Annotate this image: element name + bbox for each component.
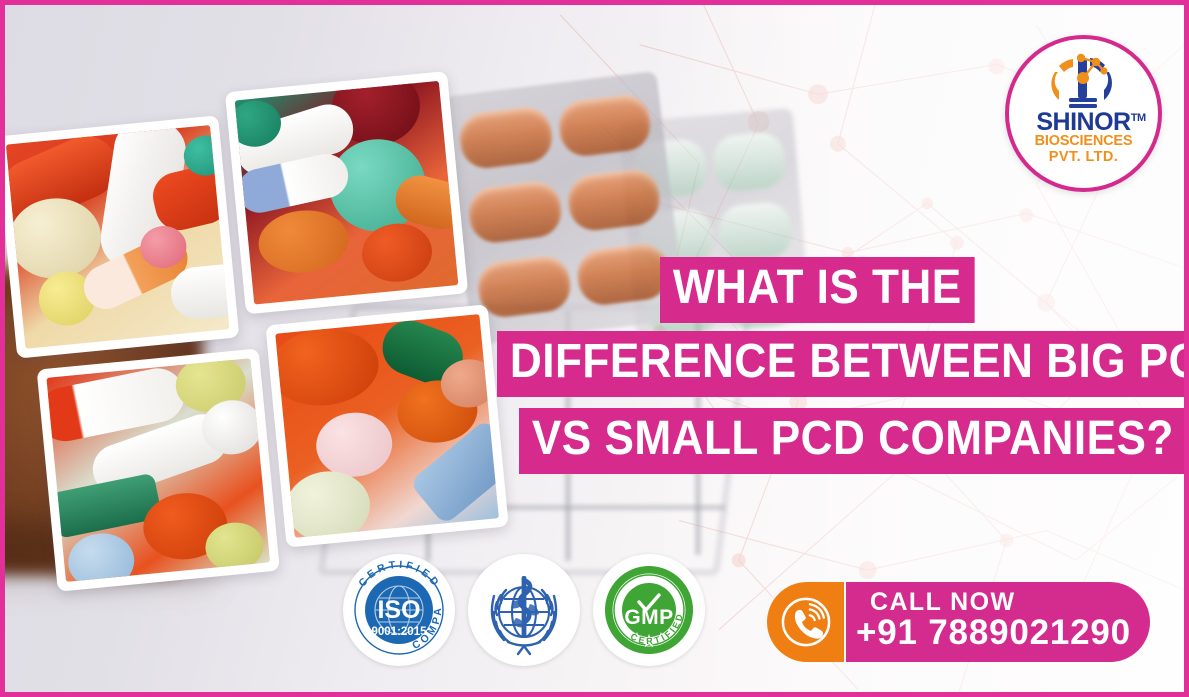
svg-text:9001:2015: 9001:2015 <box>372 626 428 638</box>
logo-name-text: SHINOR <box>1036 108 1130 136</box>
svg-text:ISO: ISO <box>377 596 420 624</box>
collage-tile-1 <box>0 115 239 358</box>
call-now-number[interactable]: +91 7889021290 <box>856 614 1150 652</box>
call-now-text: CALL NOW +91 7889021290 <box>846 582 1150 662</box>
call-now-label: CALL NOW <box>870 589 1150 615</box>
molecule-icon <box>1047 52 1121 112</box>
logo-subtitle: BIOSCIENCES <box>1035 134 1133 149</box>
trademark-icon: TM <box>1131 106 1146 130</box>
collage-tile-4 <box>265 304 508 547</box>
logo-entity-type: PVT. LTD. <box>1049 149 1118 165</box>
promotional-banner: WHAT IS THE DIFFERENCE BETWEEN BIG PCD V… <box>0 0 1189 697</box>
call-now-button[interactable]: CALL NOW +91 7889021290 <box>767 582 1150 662</box>
gmp-certification-icon: GMP GOOD MANUFACTURING PRACTICE CERTIFIE… <box>593 554 705 666</box>
logo-company-name: SHINOR TM <box>1036 110 1130 134</box>
pill-photo-collage <box>0 92 508 595</box>
iso-badge[interactable]: ISO 9001:2015 CERTIFIED COMPANY <box>343 554 455 666</box>
gmp-badge[interactable]: GMP GOOD MANUFACTURING PRACTICE CERTIFIE… <box>593 554 705 666</box>
phone-call-icon[interactable] <box>767 582 844 662</box>
who-badge[interactable] <box>468 554 580 666</box>
headline-line-1: WHAT IS THE <box>660 257 975 323</box>
headline-line-3: VS SMALL PCD COMPANIES? <box>519 408 1187 474</box>
headline: WHAT IS THE DIFFERENCE BETWEEN BIG PCD V… <box>660 257 1189 474</box>
iso-certification-icon: ISO 9001:2015 CERTIFIED COMPANY <box>343 554 455 666</box>
headline-line-2: DIFFERENCE BETWEEN BIG PCD <box>497 331 1189 397</box>
collage-tile-2 <box>225 71 468 314</box>
who-emblem-icon <box>468 554 580 666</box>
collage-tile-3 <box>37 348 280 591</box>
company-logo[interactable]: SHINOR TM BIOSCIENCES PVT. LTD. <box>1005 35 1162 192</box>
certification-badges: ISO 9001:2015 CERTIFIED COMPANY <box>343 554 705 666</box>
svg-text:GMP: GMP <box>624 606 673 629</box>
